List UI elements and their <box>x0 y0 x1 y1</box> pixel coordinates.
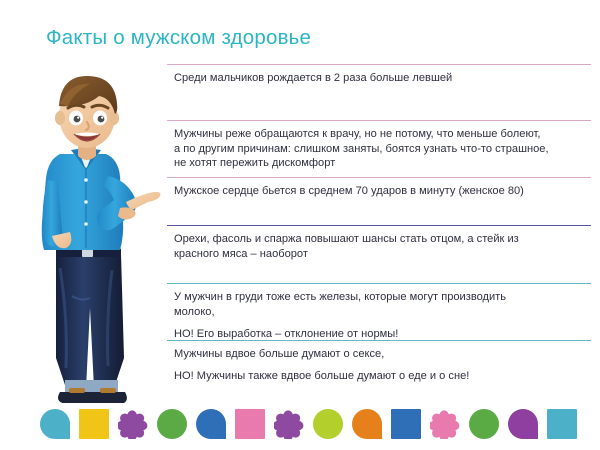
divider-rule <box>167 283 591 284</box>
shape-square-icon <box>391 409 421 439</box>
divider-rule <box>167 64 591 65</box>
shape-blob-icon <box>508 409 538 439</box>
fact-text: Мужское сердце бьется в среднем 70 ударо… <box>174 184 588 199</box>
shape-blob-icon <box>196 409 226 439</box>
slide-canvas: Факты о мужском здоровье <box>0 0 600 450</box>
fact-text: Орехи, фасоль и спаржа повышают шансы ст… <box>174 232 588 261</box>
shape-circle-icon <box>469 409 499 439</box>
fact-line: молоко, <box>174 305 588 320</box>
fact-text: У мужчин в груди тоже есть железы, котор… <box>174 290 588 319</box>
decorative-shape-strip <box>0 404 600 450</box>
divider-rule <box>167 340 591 341</box>
shape-square-icon <box>547 409 577 439</box>
fact-line: красного мяса – наоборот <box>174 247 588 262</box>
shape-circle-icon <box>313 409 343 439</box>
shape-square-icon <box>79 409 109 439</box>
fact-line: Мужское сердце бьется в среднем 70 ударо… <box>174 184 588 199</box>
shape-quatrefoil-icon <box>118 409 148 439</box>
fact-line: Мужчины вдвое больше думают о сексе, <box>174 347 588 362</box>
fact-line: не хотят пережить дискомфорт <box>174 156 588 171</box>
shape-square-icon <box>235 409 265 439</box>
shape-quatrefoil-icon <box>274 409 304 439</box>
fact-line: а по другим причинам: слишком заняты, бо… <box>174 142 588 157</box>
shape-blob-icon <box>352 409 382 439</box>
fact-line: Мужчины реже обращаются к врачу, но не п… <box>174 127 588 142</box>
fact-line: Орехи, фасоль и спаржа повышают шансы ст… <box>174 232 588 247</box>
fact-text: Среди мальчиков рождается в 2 раза больш… <box>174 71 588 86</box>
shape-quatrefoil-icon <box>430 409 460 439</box>
fact-line: НО! Мужчины также вдвое больше думают о … <box>174 369 588 384</box>
fact-line: У мужчин в груди тоже есть железы, котор… <box>174 290 588 305</box>
divider-rule <box>167 177 591 178</box>
cartoon-man-pointing-illustration <box>8 58 170 403</box>
shape-blob-icon <box>40 409 70 439</box>
divider-rule <box>167 225 591 226</box>
fact-text: Мужчины вдвое больше думают о сексе, <box>174 347 588 362</box>
fact-line: Среди мальчиков рождается в 2 раза больш… <box>174 71 588 86</box>
fact-text: Мужчины реже обращаются к врачу, но не п… <box>174 127 588 171</box>
page-title: Факты о мужском здоровье <box>46 26 311 50</box>
shape-circle-icon <box>157 409 187 439</box>
fact-second-paragraph: НО! Мужчины также вдвое больше думают о … <box>174 369 588 384</box>
divider-rule <box>167 120 591 121</box>
